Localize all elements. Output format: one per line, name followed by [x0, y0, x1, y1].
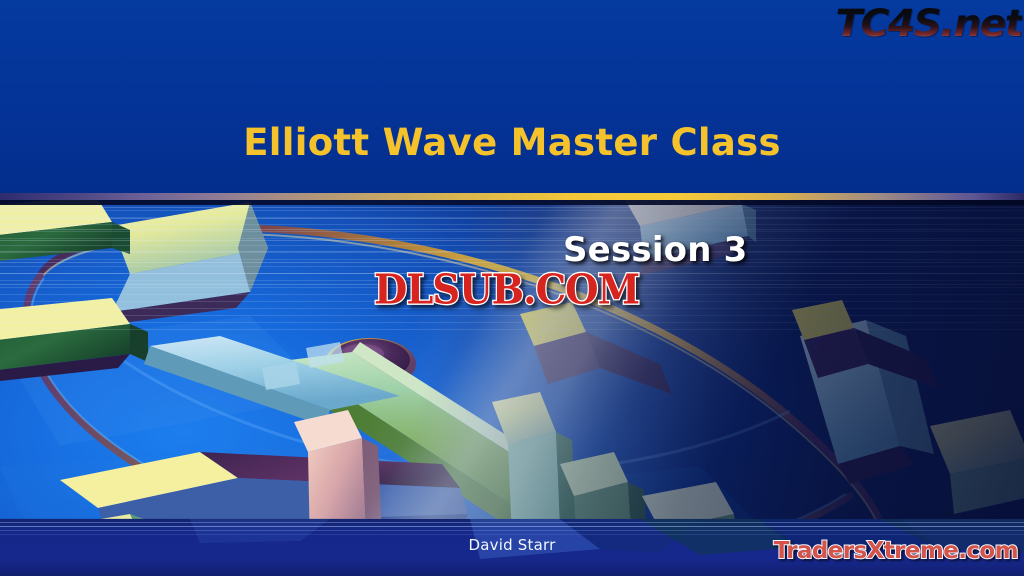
- session-label: Session 3: [563, 230, 748, 270]
- footer-rule-2: [0, 526, 1024, 527]
- slide-header: Elliott Wave Master Class TC4S.net: [0, 0, 1024, 196]
- footer-rule-1: [0, 522, 1024, 523]
- block-mid-yellow: [520, 302, 672, 394]
- footer-rule-4: [0, 534, 1024, 535]
- dlsub-watermark: DLSUB.COM: [374, 266, 639, 314]
- page-title: Elliott Wave Master Class: [0, 121, 1024, 164]
- tradersxtreme-watermark: TradersXtreme.com: [774, 538, 1018, 564]
- block-right-edge: [930, 410, 1024, 514]
- footer-rule-3: [0, 530, 1024, 531]
- tc4s-watermark: TC4S.net: [835, 2, 1022, 46]
- presentation-slide: Elliott Wave Master Class TC4S.net: [0, 0, 1024, 576]
- block-top-left: [100, 202, 268, 326]
- gold-separator-line: [0, 193, 1024, 200]
- separator-shadow: [0, 200, 1024, 205]
